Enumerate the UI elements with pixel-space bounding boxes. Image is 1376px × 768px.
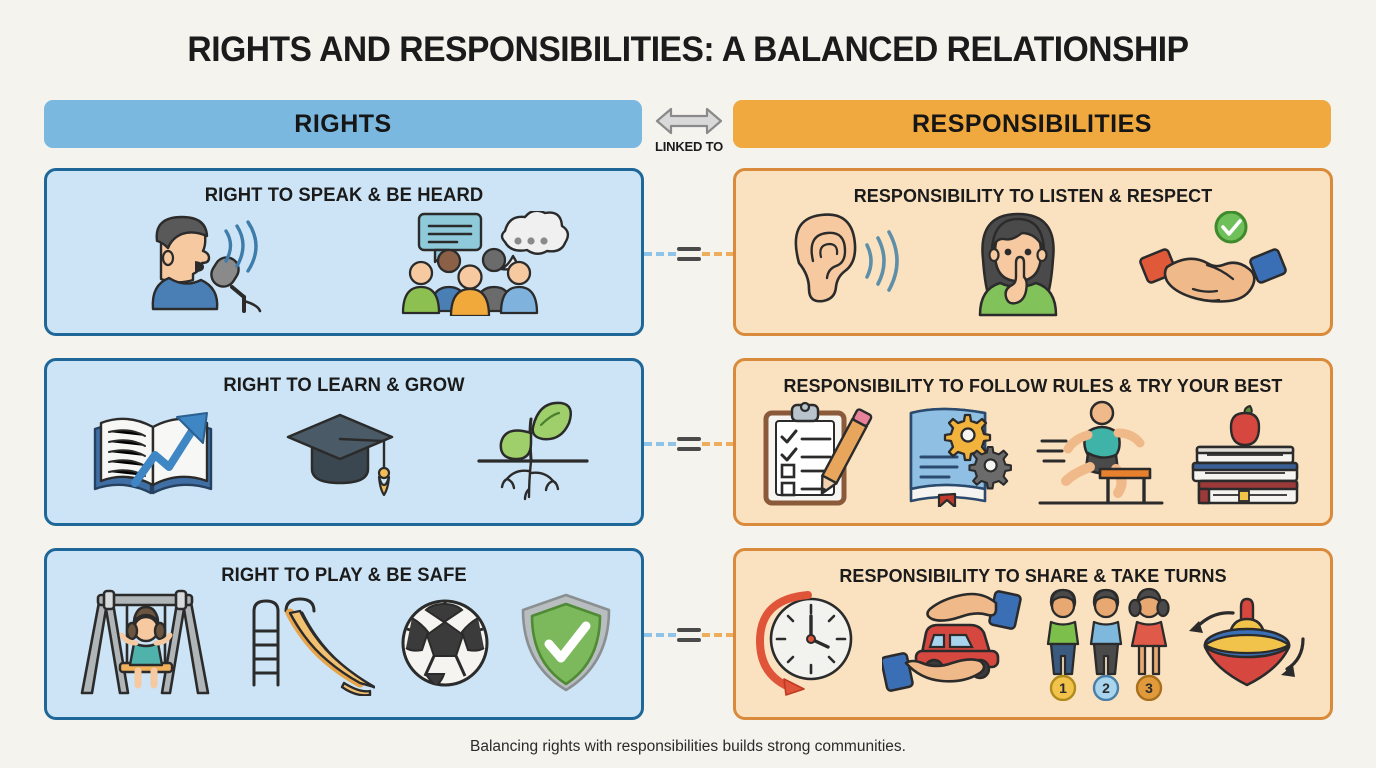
clock-with-turn-arrow-icon (756, 589, 871, 697)
rights-panel-title: RIGHT TO LEARN & GROW (56, 361, 632, 397)
rights-panel-title: RIGHT TO PLAY & BE SAFE (56, 551, 632, 587)
handshake-with-check-icon (1137, 211, 1287, 316)
responsibilities-panel-title: RESPONSIBILITY TO LISTEN & RESPECT (745, 171, 1321, 207)
soccer-ball-icon (398, 596, 493, 691)
equals-sign-icon (676, 436, 702, 452)
safety-shield-with-check-icon (516, 592, 616, 694)
athlete-jumping-hurdle-icon (1036, 399, 1166, 507)
clipboard-checklist-with-pencil-icon (758, 401, 878, 506)
spinning-top-icon (1185, 591, 1310, 696)
linked-to-label: LINKED TO (655, 139, 723, 154)
connector-dash-right (702, 252, 734, 256)
row-connector-1 (644, 242, 734, 266)
footer-caption: Balancing rights with responsibilities b… (0, 738, 1376, 756)
graduation-cap-icon (284, 403, 414, 503)
rights-icon-strip (47, 587, 641, 699)
row-connector-3 (644, 623, 734, 647)
responsibilities-icon-strip (736, 207, 1330, 319)
connector-dash-right (702, 442, 734, 446)
responsibilities-panel-title: RESPONSIBILITY TO FOLLOW RULES & TRY YOU… (745, 361, 1321, 397)
rights-panel-row-3[interactable]: RIGHT TO PLAY & BE SAFE (44, 548, 644, 720)
infographic-page: RIGHTS AND RESPONSIBILITIES: A BALANCED … (0, 0, 1376, 768)
three-children-numbered-icon: 1 2 3 (1039, 586, 1174, 701)
person-shushing-icon (958, 209, 1078, 317)
rights-column-header: RIGHTS (44, 100, 642, 148)
responsibilities-column-header: RESPONSIBILITIES (733, 100, 1331, 148)
responsibilities-panel-row-1[interactable]: RESPONSIBILITY TO LISTEN & RESPECT (733, 168, 1333, 336)
swing-set-with-child-icon (72, 589, 217, 697)
connector-dash-left (644, 633, 676, 637)
rights-panel-row-1[interactable]: RIGHT TO SPEAK & BE HEARD (44, 168, 644, 336)
responsibilities-icon-strip: 1 2 3 (736, 587, 1330, 699)
open-book-with-growth-arrow-icon (89, 401, 229, 506)
rights-icon-strip (47, 397, 641, 509)
sprouting-plant-with-roots-icon (469, 399, 599, 507)
responsibilities-panel-row-2[interactable]: RESPONSIBILITY TO FOLLOW RULES & TRY YOU… (733, 358, 1333, 526)
playground-slide-icon (240, 591, 375, 696)
connector-dash-right (702, 633, 734, 637)
rights-header-label: RIGHTS (294, 110, 391, 139)
equals-sign-icon (676, 246, 702, 262)
stacked-books-with-apple-icon (1183, 399, 1308, 507)
page-title: RIGHTS AND RESPONSIBILITIES: A BALANCED … (28, 30, 1349, 70)
person-speaking-into-microphone-icon (113, 213, 298, 313)
connector-dash-left (644, 442, 676, 446)
row-connector-2 (644, 432, 734, 456)
equals-sign-icon (676, 627, 702, 643)
rights-panel-row-2[interactable]: RIGHT TO LEARN & GROW (44, 358, 644, 526)
badge-number-1: 1 (1059, 680, 1067, 696)
double-headed-arrow-icon (653, 100, 725, 138)
rulebook-with-gears-icon (895, 399, 1020, 507)
rights-icon-strip (47, 207, 641, 319)
responsibilities-icon-strip (736, 397, 1330, 509)
audience-with-speech-bubbles-icon (401, 211, 576, 316)
badge-number-3: 3 (1145, 680, 1153, 696)
badge-number-2: 2 (1102, 680, 1110, 696)
ear-listening-icon (779, 211, 899, 316)
hands-sharing-toy-car-icon (882, 589, 1027, 697)
responsibilities-panel-row-3[interactable]: RESPONSIBILITY TO SHARE & TAKE TURNS (733, 548, 1333, 720)
connector-dash-left (644, 252, 676, 256)
responsibilities-panel-title: RESPONSIBILITY TO SHARE & TAKE TURNS (745, 551, 1321, 587)
linked-to-connector: LINKED TO (647, 100, 731, 162)
rights-panel-title: RIGHT TO SPEAK & BE HEARD (56, 171, 632, 207)
responsibilities-header-label: RESPONSIBILITIES (912, 110, 1152, 139)
